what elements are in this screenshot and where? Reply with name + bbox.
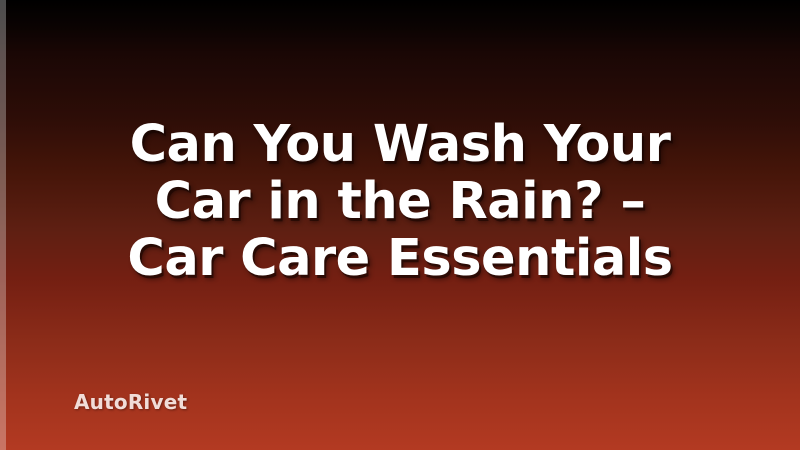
article-title-banner: Can You Wash Your Car in the Rain? – Car… xyxy=(0,0,800,450)
title-line-2: Car in the Rain? – xyxy=(40,173,760,230)
page-title: Can You Wash Your Car in the Rain? – Car… xyxy=(0,116,800,287)
title-line-1: Can You Wash Your xyxy=(40,116,760,173)
brand-logo-text: AutoRivet xyxy=(74,390,187,414)
title-line-3: Car Care Essentials xyxy=(40,230,760,287)
